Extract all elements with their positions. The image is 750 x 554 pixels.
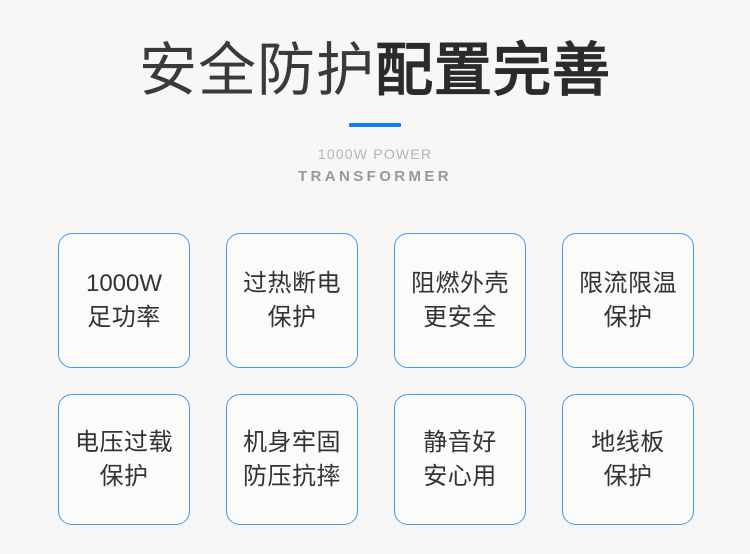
feature-card-line-2: 保护: [100, 460, 149, 494]
feature-card-line-1: 机身牢固: [243, 426, 341, 460]
feature-card-line-2: 保护: [604, 301, 653, 335]
feature-card-line-1: 阻燃外壳: [411, 267, 509, 301]
subtitle-line-1: 1000W POWER: [0, 145, 750, 163]
feature-card: 过热断电 保护: [226, 233, 358, 368]
page-title: 安全防护配置完善: [0, 36, 750, 106]
page-header: 安全防护配置完善 1000W POWER TRANSFORMER: [0, 0, 750, 187]
feature-card: 机身牢固 防压抗摔: [226, 394, 358, 525]
page-title-bold: 配置完善: [375, 38, 611, 103]
feature-card-line-2: 更安全: [423, 301, 497, 335]
feature-card-line-1: 静音好: [423, 426, 497, 460]
feature-card: 限流限温 保护: [562, 233, 694, 368]
feature-card-line-2: 足功率: [87, 301, 161, 335]
feature-card: 阻燃外壳 更安全: [394, 233, 526, 368]
title-divider-wrap: [0, 122, 750, 127]
feature-card-line-1: 电压过载: [75, 426, 173, 460]
feature-card: 地线板 保护: [562, 394, 694, 525]
subtitle-line-2: TRANSFORMER: [0, 167, 750, 187]
feature-card-line-1: 过热断电: [243, 267, 341, 301]
feature-card-line-2: 保护: [268, 301, 317, 335]
feature-card: 静音好 安心用: [394, 394, 526, 525]
title-divider: [349, 123, 401, 127]
feature-card-line-2: 安心用: [423, 460, 497, 494]
promo-page: 安全防护配置完善 1000W POWER TRANSFORMER 1000W 足…: [0, 0, 750, 554]
feature-card-grid: 1000W 足功率 过热断电 保护 阻燃外壳 更安全 限流限温 保护 电压过载 …: [58, 233, 694, 525]
feature-card: 1000W 足功率: [58, 233, 190, 368]
feature-card-line-1: 限流限温: [579, 267, 677, 301]
feature-card-line-2: 保护: [604, 460, 653, 494]
feature-card-line-1: 1000W: [86, 267, 162, 301]
feature-card-line-2: 防压抗摔: [243, 460, 341, 494]
feature-card-line-1: 地线板: [591, 426, 665, 460]
page-title-light: 安全防护: [139, 38, 375, 103]
feature-card: 电压过载 保护: [58, 394, 190, 525]
